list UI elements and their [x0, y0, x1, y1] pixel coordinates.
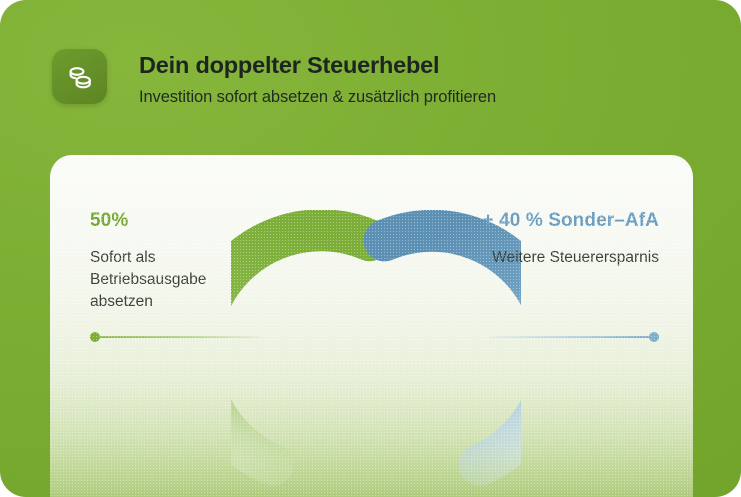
- stat-left-value: 50%: [90, 209, 300, 233]
- slider-track-left[interactable]: [90, 332, 260, 342]
- header: Dein doppelter Steuerhebel Investition s…: [52, 49, 496, 108]
- header-text: Dein doppelter Steuerhebel Investition s…: [139, 49, 496, 108]
- green-panel: Dein doppelter Steuerhebel Investition s…: [0, 0, 741, 497]
- slider-line-right: [489, 336, 659, 338]
- logo-tile: [52, 49, 107, 104]
- stat-right-description: Weitere Steuerersparnis: [449, 247, 659, 269]
- slider-track-right[interactable]: [489, 332, 659, 342]
- page-subtitle: Investition sofort absetzen & zusätzlich…: [139, 87, 496, 108]
- slider-line-left: [90, 336, 260, 338]
- content-card: 50% Sofort als Betriebsausgabe absetzen …: [50, 155, 693, 497]
- stacked-coins-icon: [65, 62, 95, 92]
- slider-handle-left[interactable]: [90, 332, 100, 342]
- stat-left-description: Sofort als Betriebsausgabe absetzen: [90, 247, 230, 313]
- screenshot-stage: Dein doppelter Steuerhebel Investition s…: [0, 0, 741, 497]
- page-title: Dein doppelter Steuerhebel: [139, 51, 496, 79]
- stat-left: 50% Sofort als Betriebsausgabe absetzen: [90, 209, 300, 313]
- stat-right-value: + 40 % Sonder–AfA: [449, 209, 659, 233]
- slider-handle-right[interactable]: [649, 332, 659, 342]
- stat-right: + 40 % Sonder–AfA Weitere Steuerersparni…: [449, 209, 659, 269]
